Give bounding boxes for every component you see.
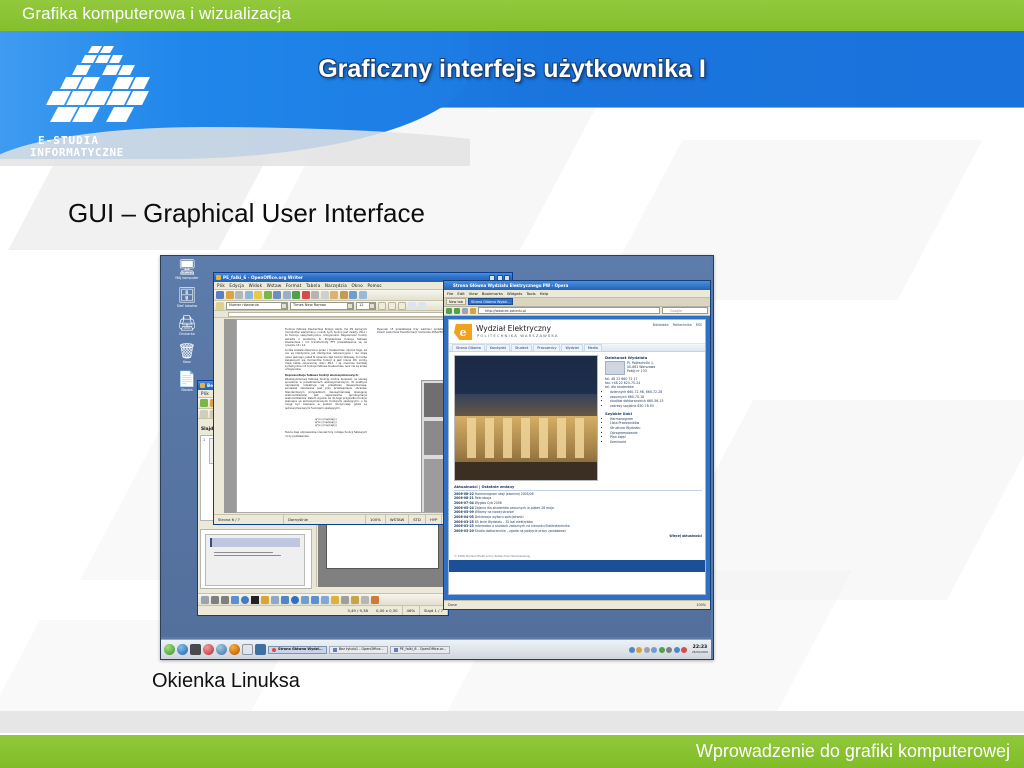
callout-icon[interactable]	[321, 596, 329, 604]
opera-titlebar[interactable]: Strona Główna Wydziału Elektrycznego PW …	[444, 281, 710, 290]
print-preview-icon[interactable]	[283, 291, 291, 299]
news-item[interactable]: 2006-03-23 Informator o studiach zaoczny…	[454, 524, 702, 528]
connector-icon[interactable]	[271, 596, 279, 604]
mini-slide-title-bar	[210, 538, 300, 547]
opera-menubar[interactable]: File Edit View Bookmarks Widgets Tools H…	[444, 290, 710, 298]
status-insert-mode: WSTAW	[386, 515, 409, 524]
editor-icon[interactable]	[255, 644, 266, 655]
dean-address-3: Pokój nr 133	[627, 369, 647, 373]
webpage-viewport[interactable]: e Wydział Elektryczny POLITECHNIKA WARSZ…	[448, 319, 706, 595]
trash-icon: 🗑	[165, 344, 209, 359]
start-menu-icon[interactable]	[164, 644, 175, 655]
news-heading: Aktualności | Ostatnie zmiany	[454, 485, 702, 491]
from-file-icon[interactable]	[361, 596, 369, 604]
top-title-band: Grafika komputerowa i wizualizacja	[0, 0, 1024, 31]
desktop-screenshot-image: 🖥 Mój komputer 🗄 Sieć lokalna 🖨 Drukarka…	[160, 255, 714, 660]
image-caption: Okienka Linuksa	[152, 670, 300, 693]
system-tray[interactable]: 22:23 28/06/2006	[629, 645, 708, 655]
news-item[interactable]: 2006-05-24 Zajęcia dla studentów zaoczny…	[454, 506, 702, 510]
status-zoom: 100%	[366, 515, 386, 524]
news-item[interactable]: 2006-03-20 Studia doktoranckie – zgoda n…	[454, 529, 702, 533]
firefox-icon[interactable]	[229, 644, 240, 655]
status-style: Domyślnie	[284, 515, 366, 524]
status-done: Done	[448, 601, 457, 609]
footer-band: Wprowadzenie do grafiki komputerowej	[0, 735, 1024, 768]
chevron-down-icon	[347, 303, 353, 309]
files-icon[interactable]	[216, 644, 227, 655]
star-icon[interactable]	[331, 596, 339, 604]
styles-icon[interactable]	[216, 302, 224, 310]
paragraph-3: Reprezentacje falkowe funkcji wielowymia…	[285, 374, 367, 377]
show-desktop-icon[interactable]	[242, 644, 253, 655]
desktop-icon-network[interactable]: 🗄 Sieć lokalna	[165, 288, 209, 308]
bold-icon[interactable]	[378, 302, 386, 310]
edit-icon[interactable]	[254, 291, 262, 299]
notes-panel[interactable]	[200, 529, 312, 589]
nav-strona-glowna[interactable]: Strona Główna	[452, 344, 485, 352]
nav-media[interactable]: Media	[584, 344, 602, 352]
flowchart-icon[interactable]	[311, 596, 319, 604]
tray-volume-icon[interactable]	[636, 647, 642, 653]
save-icon[interactable]	[235, 291, 243, 299]
quick-link-item[interactable]: Oprogramowanie	[610, 431, 702, 435]
chevron-down-icon	[281, 303, 287, 309]
autospell-icon[interactable]	[302, 291, 310, 299]
tray-network-icon[interactable]	[629, 647, 635, 653]
tray-sync-icon[interactable]	[674, 647, 680, 653]
news-item[interactable]: 2006-08-22 Harmonogram sesji jesiennej 2…	[454, 492, 702, 496]
quick-link-item[interactable]: Struktura Wydziału	[610, 426, 702, 430]
nav-pracownicy[interactable]: Pracownicy	[533, 344, 560, 352]
dean-contact-list: dziennych 660-72-98, 660-72-28 zaocznych…	[605, 390, 702, 408]
align-left-icon[interactable]	[408, 302, 416, 310]
basic-shapes-icon[interactable]	[281, 596, 289, 604]
more-news-link[interactable]: Więcej aktualności	[454, 534, 702, 538]
desktop-icon-trash[interactable]: 🗑 Kosz	[165, 344, 209, 364]
link-rss[interactable]: RSS	[696, 323, 702, 327]
link-politechnika[interactable]: Politechnika	[673, 323, 692, 327]
nav-student[interactable]: Student	[511, 344, 532, 352]
faculty-logo-icon: e	[454, 324, 472, 340]
new-tab-button[interactable]: New tab	[446, 298, 466, 305]
font-size-combo[interactable]: 12	[356, 302, 376, 310]
status-hyperlink-mode: HYP	[426, 515, 442, 524]
logo: E-STUDIA INFORMATYCZNE	[22, 42, 162, 162]
email-icon[interactable]	[245, 291, 253, 299]
align-center-icon[interactable]	[418, 302, 426, 310]
rotate-icon[interactable]	[341, 596, 349, 604]
back-icon[interactable]	[446, 308, 452, 314]
undo-icon[interactable]	[349, 291, 357, 299]
site-footer: © 2006 Wydział Elektryczny Politechniki …	[449, 552, 705, 572]
logo-grid-icon	[22, 42, 162, 137]
chevron-down-icon	[369, 303, 375, 309]
spellcheck-icon[interactable]	[292, 291, 300, 299]
address-input[interactable]: http://www.ee.pw.edu.pl	[478, 307, 660, 314]
reload-icon[interactable]	[462, 308, 468, 314]
text-icon[interactable]	[251, 596, 259, 604]
quick-link-item[interactable]: Lista Pracowników	[610, 421, 702, 425]
quick-links-list[interactable]: Harmonogram Lista Pracowników Struktura …	[605, 417, 702, 444]
open-icon[interactable]	[226, 291, 234, 299]
block-arrows-icon[interactable]	[301, 596, 309, 604]
paragraph-5: Teoria daje odpowiednie również trzy rod…	[285, 431, 367, 437]
paragraph-1: Funkcja falkowa Daubechies N-tego rzędu …	[285, 328, 367, 347]
fontwork-icon[interactable]	[351, 596, 359, 604]
tab-strona-glowna[interactable]: Strona Główna Wydzi...	[468, 298, 513, 305]
style-icon[interactable]	[200, 410, 208, 418]
status-zoom: 46%	[403, 606, 420, 615]
site-navigation[interactable]: Strona Główna Kandydat Student Pracownic…	[449, 344, 705, 352]
app-icon	[216, 275, 221, 280]
web-browser-icon[interactable]	[177, 644, 188, 655]
italic-icon[interactable]	[388, 302, 396, 310]
computer-icon: 🖥	[165, 260, 209, 275]
footer-title: Wprowadzenie do grafiki komputerowej	[696, 741, 1010, 762]
status-selection-mode: STD	[409, 515, 426, 524]
status-position: 3,49 / 9,38	[343, 606, 372, 615]
webpage-main: Dziekanat Wydziału Pl. Politechniki 1, 0…	[449, 353, 705, 572]
logo-line-2: INFORMATYCZNE	[30, 146, 124, 159]
gallery-icon[interactable]	[371, 596, 379, 604]
rectangle-icon[interactable]	[231, 596, 239, 604]
export-pdf-icon[interactable]	[264, 291, 272, 299]
search-input[interactable]: Google	[662, 307, 708, 314]
underline-icon[interactable]	[398, 302, 406, 310]
taskbar[interactable]: Strona Główna Wydzi... Bez tytułu1 - Ope…	[161, 639, 711, 659]
taskbar-button-opera[interactable]: Strona Główna Wydzi...	[268, 646, 327, 654]
terminal-icon[interactable]	[190, 644, 201, 655]
cut-icon[interactable]	[311, 291, 319, 299]
copy-icon[interactable]	[321, 291, 329, 299]
news-item[interactable]: 2006-07-04 Wygłos Cyb 2006	[454, 501, 702, 505]
news-item[interactable]: 2006-04-05 Deklaracje wyboru specjalnośc…	[454, 515, 702, 519]
dean-students-label: tel. dla studentów	[605, 385, 634, 389]
opera-statusbar: Done 100%	[444, 600, 710, 609]
forward-icon[interactable]	[454, 308, 460, 314]
impress-statusbar: 3,49 / 9,38 0,00 x 0,30 46% Slajd 1 / 7	[198, 605, 448, 615]
desktop-icon-computer[interactable]: 🖥 Mój komputer	[165, 260, 209, 280]
news-item[interactable]: 2006-08-21 Rekrutacja	[454, 496, 702, 500]
figure-caption-top: Rysunek 15 przedstawia trzy wartości pod…	[377, 328, 453, 334]
tray-display-icon[interactable]	[666, 647, 672, 653]
arrow-icon[interactable]	[221, 596, 229, 604]
tray-clipboard-icon[interactable]	[651, 647, 657, 653]
news-section: Aktualności | Ostatnie zmiany 2006-08-22…	[454, 485, 702, 539]
new-icon[interactable]	[200, 399, 208, 407]
app-icon	[200, 383, 205, 388]
dean-heading: Dziekanat Wydziału	[605, 355, 702, 360]
printer-icon: 🖨	[165, 316, 209, 331]
site-title: Wydział Elektryczny	[476, 324, 551, 333]
tray-alert-icon[interactable]	[681, 647, 687, 653]
select-icon[interactable]	[201, 596, 209, 604]
news-item[interactable]: 2006-03-25 85 lecie Wydziału – 32 bal el…	[454, 520, 702, 524]
quick-links-heading: Szybkie linki	[605, 411, 702, 416]
equation-block: φ¹(x,y)=φ(x)φ(y)φ²(x,y)=φ(x)ψ(y)φ³(x,y)=…	[285, 418, 367, 428]
site-top-links[interactable]: Biblioteka Politechnika RSS	[653, 323, 702, 327]
hero-photo	[454, 355, 598, 481]
drawing-toolbar[interactable]	[198, 593, 448, 605]
footer-grey-band	[0, 711, 1024, 733]
symbol-shapes-icon[interactable]	[291, 596, 299, 604]
page-margin-strip	[224, 319, 236, 513]
help-icon[interactable]	[203, 644, 214, 655]
status-page: Strona 6 / ?	[214, 515, 284, 524]
home-icon[interactable]	[470, 308, 476, 314]
site-header: e Wydział Elektryczny POLITECHNIKA WARSZ…	[449, 320, 705, 344]
line-icon[interactable]	[211, 596, 219, 604]
notes-thumbnail[interactable]	[205, 534, 305, 586]
paragraph-4: Wielowymiarową falkową funkcję można bud…	[285, 378, 367, 410]
opera-window[interactable]: Strona Główna Wydziału Elektrycznego PW …	[443, 280, 711, 610]
quick-link-item[interactable]: Plan zajęć	[610, 435, 702, 439]
paste-icon[interactable]	[330, 291, 338, 299]
taskbar-button-writer[interactable]: PE_falki_6 - OpenOffice.or...	[390, 646, 451, 654]
news-item[interactable]: 2006-05-09 Witamy na nowej stronie!	[454, 510, 702, 514]
desktop-background: 🖥 Mój komputer 🗄 Sieć lokalna 🖨 Drukarka…	[161, 256, 711, 637]
content-heading: GUI – Graphical User Interface	[68, 198, 425, 229]
opera-addressbar[interactable]: http://www.ee.pw.edu.pl Google	[444, 307, 710, 316]
print-icon[interactable]	[273, 291, 281, 299]
font-name-combo[interactable]: Times New Roman	[290, 302, 354, 310]
building-thumbnail	[605, 361, 625, 375]
tray-battery-icon[interactable]	[659, 647, 665, 653]
site-subtitle: POLITECHNIKA WARSZAWSKA	[477, 333, 559, 338]
paragraph-2: Liczba została stworzona przez I. Daubec…	[285, 349, 367, 371]
link-biblioteka[interactable]: Biblioteka	[653, 323, 669, 327]
curve-icon[interactable]	[261, 596, 269, 604]
nav-kandydat[interactable]: Kandydat	[486, 344, 510, 352]
opera-tabbar[interactable]: New tab Strona Główna Wydzi...	[444, 298, 710, 307]
redo-icon[interactable]	[359, 291, 367, 299]
desktop-icon-printer[interactable]: 🖨 Drukarka	[165, 316, 209, 336]
tray-update-icon[interactable]	[644, 647, 650, 653]
document-text-column: Funkcja falkowa Daubechies N-tego rzędu …	[285, 328, 367, 438]
quick-link-item[interactable]: Harmonogram	[610, 417, 702, 421]
status-size: 0,00 x 0,30	[372, 606, 403, 615]
course-title: Grafika komputerowa i wizualizacja	[22, 4, 291, 24]
ellipse-icon[interactable]	[241, 596, 249, 604]
taskbar-button-impress[interactable]: Bez tytułu1 - OpenOffice...	[329, 646, 388, 654]
clone-format-icon[interactable]	[340, 291, 348, 299]
paragraph-style-combo[interactable]: Numer równania	[226, 302, 288, 310]
status-zoom: 100%	[696, 601, 706, 609]
taskbar-clock[interactable]: 22:23 28/06/2006	[689, 645, 708, 655]
network-icon: 🗄	[165, 288, 209, 303]
nav-wydzial[interactable]: Wydział	[561, 344, 582, 352]
new-icon[interactable]	[216, 291, 224, 299]
quick-link-item[interactable]: Seminaria	[610, 440, 702, 444]
copyright-text: © 2006 Wydział Elektryczny Politechniki …	[449, 552, 705, 558]
